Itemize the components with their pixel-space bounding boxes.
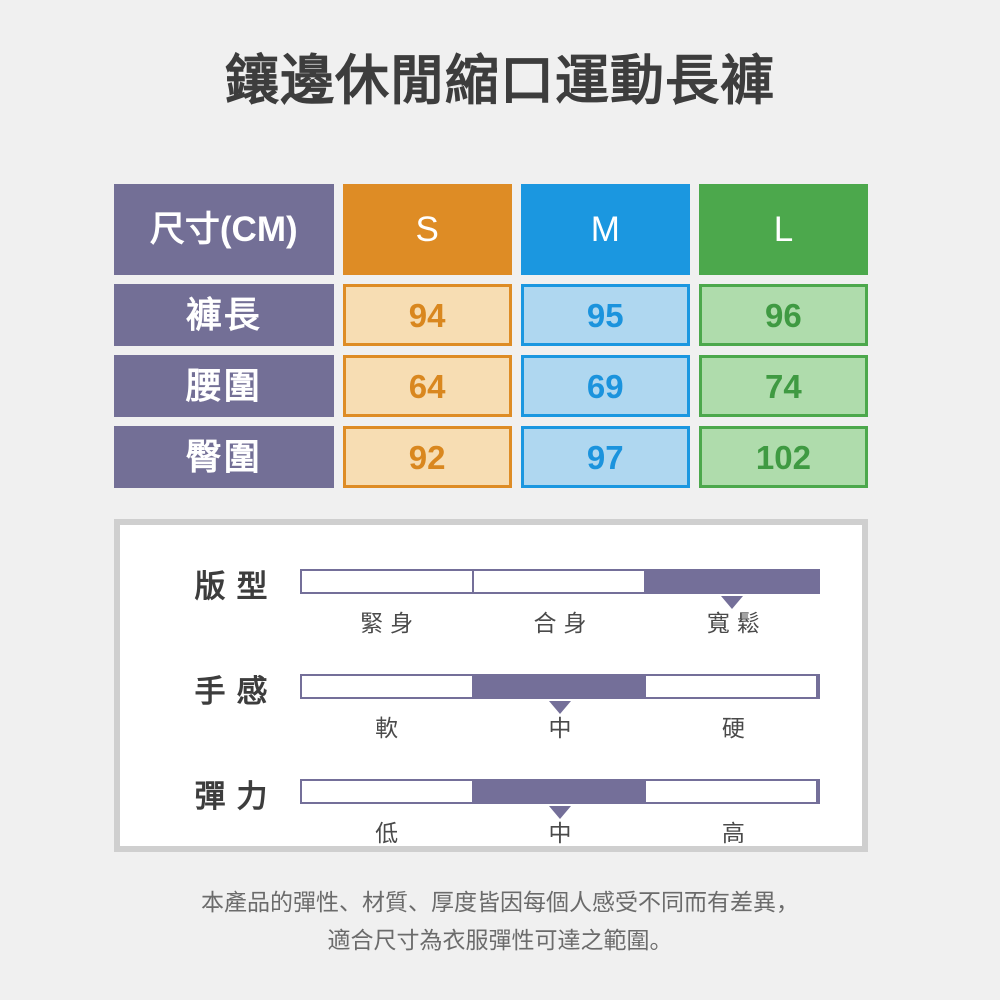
disclaimer-note: 本產品的彈性、材質、厚度皆因每個人感受不同而有差異， 適合尺寸為衣服彈性可達之範… [0,884,1000,960]
slider-scale-label-hard: 硬 [647,717,820,740]
table-header-size-l: L [699,184,868,275]
attribute-row-texture: 手感 軟 中 硬 [120,660,862,750]
table-row: 腰圍 64 69 74 [114,355,868,417]
slider-segment-hard[interactable] [646,676,818,697]
slider-scale-elasticity: 低 中 高 [300,822,820,845]
slider-scale-label-loose: 寬鬆 [647,612,820,635]
page-title: 鑲邊休閒縮口運動長褲 [0,52,1000,111]
cell-pants-length-s: 94 [343,284,512,346]
cell-hip-s: 92 [343,426,512,488]
table-header-size-s: S [343,184,512,275]
slider-track-elasticity[interactable] [300,779,820,804]
table-header-size-unit: 尺寸(CM) [114,184,334,275]
cell-waist-s: 64 [343,355,512,417]
disclaimer-line-2: 適合尺寸為衣服彈性可達之範圍。 [0,922,1000,960]
cell-pants-length-m: 95 [521,284,690,346]
attribute-slider-texture[interactable]: 軟 中 硬 [300,674,820,740]
row-label-waist: 腰圍 [114,355,334,417]
slider-scale-label-medium-texture: 中 [473,717,646,740]
slider-segment-medium-elasticity[interactable] [474,781,646,802]
slider-scale-label-soft: 軟 [300,717,473,740]
attribute-row-elasticity: 彈力 低 中 高 [120,765,862,855]
size-table: 尺寸(CM) S M L 褲長 94 95 96 腰圍 64 69 74 臀圍 … [114,184,868,488]
attribute-label-elasticity: 彈力 [164,781,298,812]
slider-segment-loose[interactable] [646,571,818,592]
size-chart-page: 鑲邊休閒縮口運動長褲 尺寸(CM) S M L 褲長 94 95 96 腰圍 6… [0,0,1000,1000]
slider-marker-icon-fit [721,596,743,609]
slider-marker-icon-texture [549,701,571,714]
cell-waist-m: 69 [521,355,690,417]
disclaimer-line-1: 本產品的彈性、材質、厚度皆因每個人感受不同而有差異， [0,884,1000,922]
table-header-row: 尺寸(CM) S M L [114,184,868,275]
slider-segment-regular[interactable] [474,571,646,592]
cell-waist-l: 74 [699,355,868,417]
slider-track-fit[interactable] [300,569,820,594]
cell-hip-l: 102 [699,426,868,488]
table-header-size-m: M [521,184,690,275]
row-label-hip: 臀圍 [114,426,334,488]
slider-segment-tight[interactable] [302,571,474,592]
table-row: 褲長 94 95 96 [114,284,868,346]
slider-scale-label-low: 低 [300,822,473,845]
attribute-label-texture: 手感 [164,676,298,707]
slider-scale-texture: 軟 中 硬 [300,717,820,740]
slider-scale-label-tight: 緊身 [300,612,473,635]
slider-track-texture[interactable] [300,674,820,699]
table-row: 臀圍 92 97 102 [114,426,868,488]
attribute-row-fit: 版型 緊身 合身 寬鬆 [120,555,862,645]
slider-marker-icon-elasticity [549,806,571,819]
slider-segment-medium-texture[interactable] [474,676,646,697]
slider-scale-label-regular: 合身 [473,612,646,635]
cell-pants-length-l: 96 [699,284,868,346]
attributes-panel: 版型 緊身 合身 寬鬆 手感 [114,519,868,852]
slider-scale-label-high: 高 [647,822,820,845]
slider-scale-label-medium-elasticity: 中 [473,822,646,845]
row-label-pants-length: 褲長 [114,284,334,346]
slider-scale-fit: 緊身 合身 寬鬆 [300,612,820,635]
cell-hip-m: 97 [521,426,690,488]
slider-segment-high[interactable] [646,781,818,802]
slider-segment-soft[interactable] [302,676,474,697]
attribute-slider-elasticity[interactable]: 低 中 高 [300,779,820,845]
attribute-slider-fit[interactable]: 緊身 合身 寬鬆 [300,569,820,635]
attribute-label-fit: 版型 [164,571,298,602]
slider-segment-low[interactable] [302,781,474,802]
